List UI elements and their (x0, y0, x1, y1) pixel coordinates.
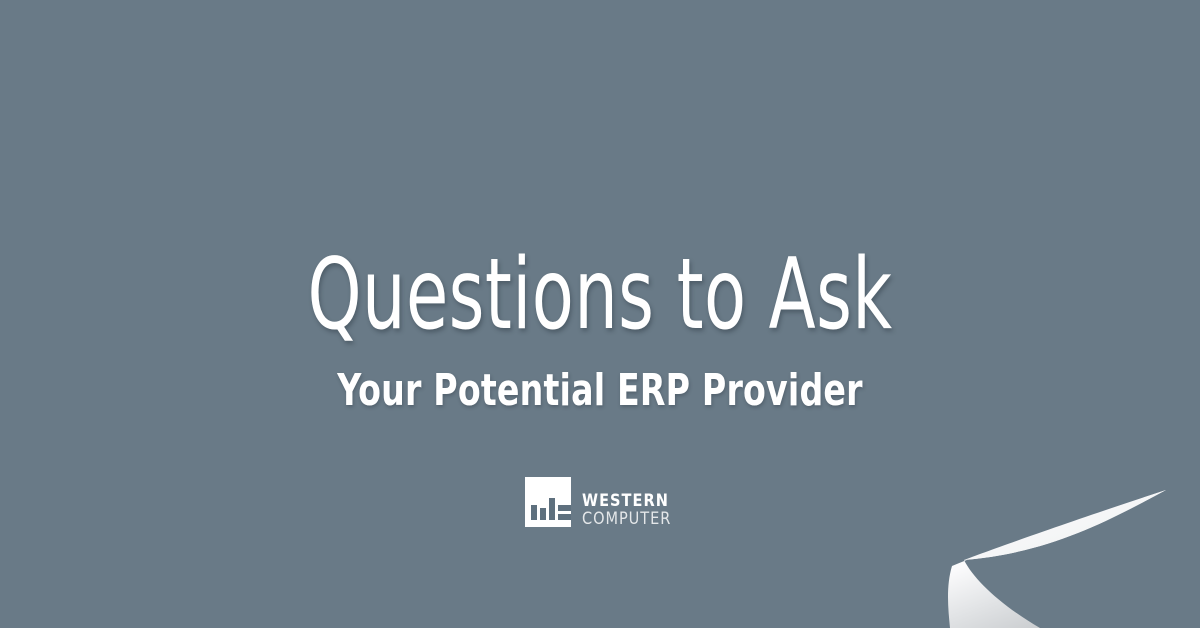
brand-logo-inner: WESTERN COMPUTER (525, 477, 676, 529)
slide-canvas: Questions to Ask Your Potential ERP Prov… (0, 0, 1200, 628)
brand-wordmark: WESTERN COMPUTER (582, 477, 676, 529)
brand-wordmark-secondary: COMPUTER (582, 510, 671, 529)
page-title: Questions to Ask (132, 244, 1068, 348)
brand-logo: WESTERN COMPUTER (0, 477, 1200, 529)
brand-wordmark-primary: WESTERN (582, 493, 671, 510)
bar-chart-icon (525, 477, 571, 527)
page-subtitle: Your Potential ERP Provider (96, 367, 1104, 415)
